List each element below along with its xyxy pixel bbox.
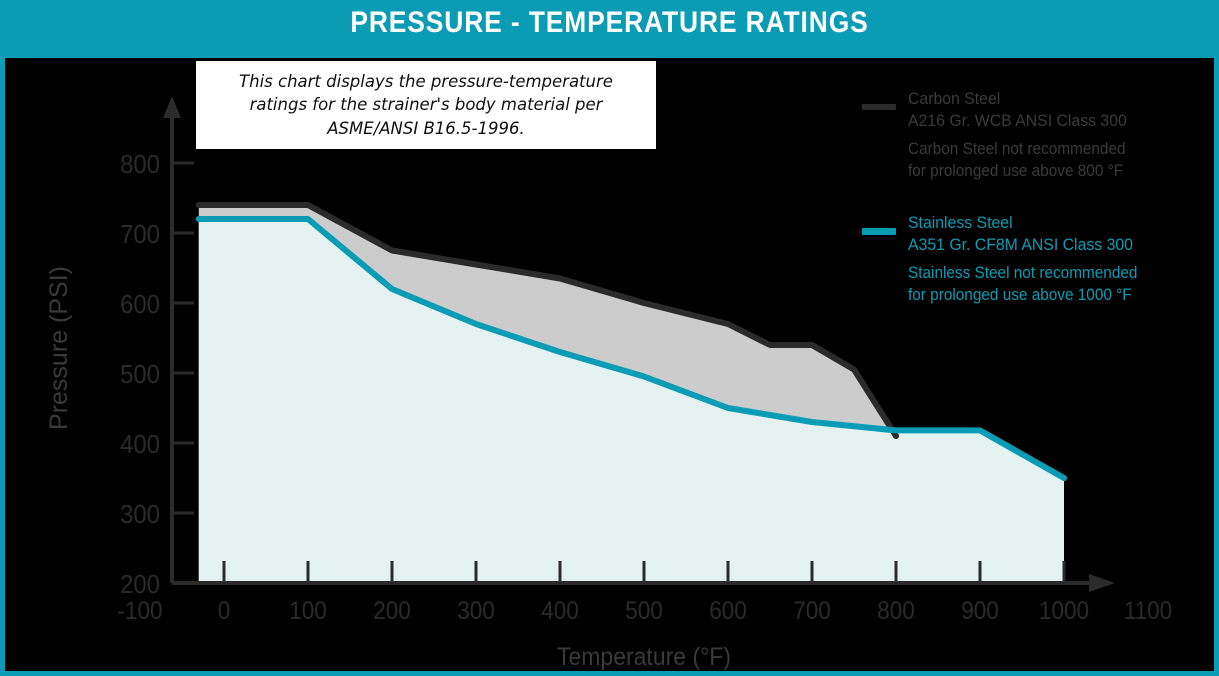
legend-note-carbon-steel-line-1: Carbon Steel not recommended [908,139,1172,160]
x-axis-tick-label: 200 [373,597,411,625]
x-axis-tick-label: 700 [793,597,831,625]
legend-swatch-stainless-steel-icon [862,228,896,235]
x-axis-tick-label: 400 [541,597,579,625]
y-axis-arrow-icon [163,96,181,118]
legend-item-stainless-steel: Stainless Steel A351 Gr. CF8M ANSI Class… [862,212,1192,306]
x-axis-arrow-icon [1089,574,1115,592]
chart-header-bar: PRESSURE - TEMPERATURE RATINGS [0,0,1219,58]
x-axis-tick-label: 800 [877,597,915,625]
chart-annotation-text: This chart displays the pressure-tempera… [196,70,656,140]
x-axis-tick-label: -100 [117,597,162,625]
legend-item-carbon-steel: Carbon Steel A216 Gr. WCB ANSI Class 300… [862,88,1192,182]
legend-title-stainless-steel: Stainless Steel [908,212,1172,234]
pressure-temperature-chart-page: PRESSURE - TEMPERATURE RATINGS 200300400… [0,0,1219,676]
x-axis-tick-label: 600 [709,597,747,625]
chart-annotation-box: This chart displays the pressure-tempera… [196,61,656,149]
y-axis-tick-label: 300 [120,500,160,529]
y-axis-tick-label: 400 [120,430,160,459]
y-axis-tick-label: 200 [120,570,160,599]
y-axis-tick-label: 800 [120,150,160,179]
y-axis-title: Pressure (PSI) [45,266,73,430]
legend-note-carbon-steel-line-2: for prolonged use above 800 °F [908,161,1172,182]
x-axis-tick-label: 300 [457,597,495,625]
y-axis-tick-label: 500 [120,360,160,389]
x-axis-tick-label: 1000 [1039,597,1089,625]
y-axis-tick-label: 700 [120,220,160,249]
x-axis-tick-label: 0 [218,597,231,625]
x-axis-tick-label: 1100 [1124,597,1172,625]
legend-note-stainless-steel-line-2: for prolonged use above 1000 °F [908,285,1172,306]
legend-note-stainless-steel-line-1: Stainless Steel not recommended [908,263,1172,284]
x-axis-tick-label: 500 [625,597,663,625]
page-title: PRESSURE - TEMPERATURE RATINGS [73,6,1146,40]
x-axis-tick-label: 900 [961,597,999,625]
chart-legend: Carbon Steel A216 Gr. WCB ANSI Class 300… [862,88,1192,328]
x-axis-title: Temperature (°F) [557,643,731,671]
legend-spec-stainless-steel: A351 Gr. CF8M ANSI Class 300 [908,234,1172,256]
legend-swatch-carbon-steel-icon [862,104,896,110]
legend-title-carbon-steel: Carbon Steel [908,88,1172,110]
y-axis-tick-label: 600 [120,290,160,319]
legend-spec-carbon-steel: A216 Gr. WCB ANSI Class 300 [908,110,1172,132]
x-axis-tick-label: 100 [289,597,327,625]
